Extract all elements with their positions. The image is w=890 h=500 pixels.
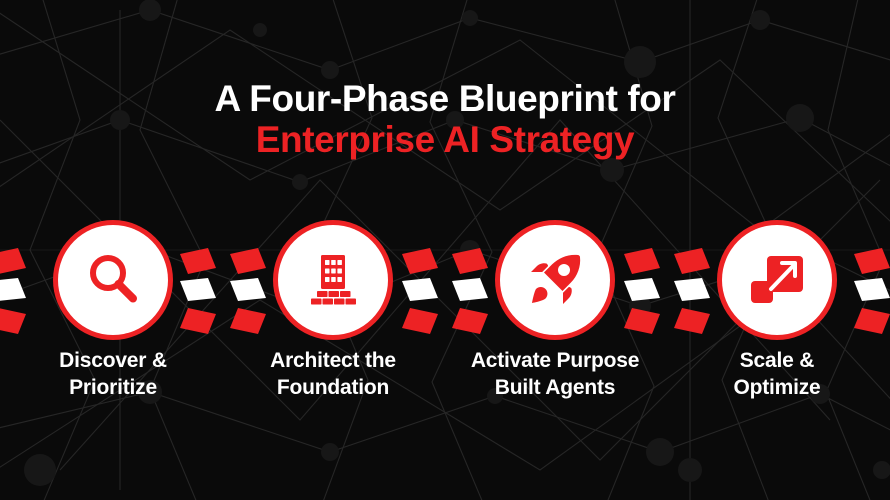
infographic-canvas: A Four-Phase Blueprint for Enterprise AI… (0, 0, 890, 500)
step-3-label-line-2: Built Agents (495, 376, 615, 399)
step-3-label: Activate Purpose Built Agents (440, 348, 670, 402)
magnifier-icon (81, 248, 145, 312)
step-1-discover-prioritize[interactable] (58, 225, 168, 335)
step-2-architect-foundation[interactable] (278, 225, 388, 335)
step-2-label: Architect the Foundation (218, 348, 448, 402)
phase-steps: Discover & Prioritize (0, 0, 890, 500)
title-line-2: Enterprise AI Strategy (0, 119, 890, 160)
step-1-label: Discover & Prioritize (0, 348, 228, 402)
step-2-label-line-1: Architect the (270, 349, 396, 372)
step-circle (500, 225, 610, 335)
step-3-activate-agents[interactable] (500, 225, 610, 335)
rocket-icon (522, 247, 588, 313)
title-line-1: A Four-Phase Blueprint for (0, 78, 890, 119)
step-1-label-line-2: Prioritize (69, 376, 157, 399)
page-title: A Four-Phase Blueprint for Enterprise AI… (0, 78, 890, 161)
step-circle (58, 225, 168, 335)
step-2-label-line-2: Foundation (277, 376, 389, 399)
step-1-label-line-1: Discover & (59, 349, 167, 372)
building-foundation-icon (300, 247, 366, 313)
step-4-label-line-1: Scale & (740, 349, 814, 372)
step-3-label-line-1: Activate Purpose (471, 349, 639, 372)
step-circle (278, 225, 388, 335)
step-4-label: Scale & Optimize (662, 348, 890, 402)
step-4-label-line-2: Optimize (733, 376, 820, 399)
scale-arrow-icon (745, 248, 809, 312)
step-4-scale-optimize[interactable] (722, 225, 832, 335)
step-circle (722, 225, 832, 335)
